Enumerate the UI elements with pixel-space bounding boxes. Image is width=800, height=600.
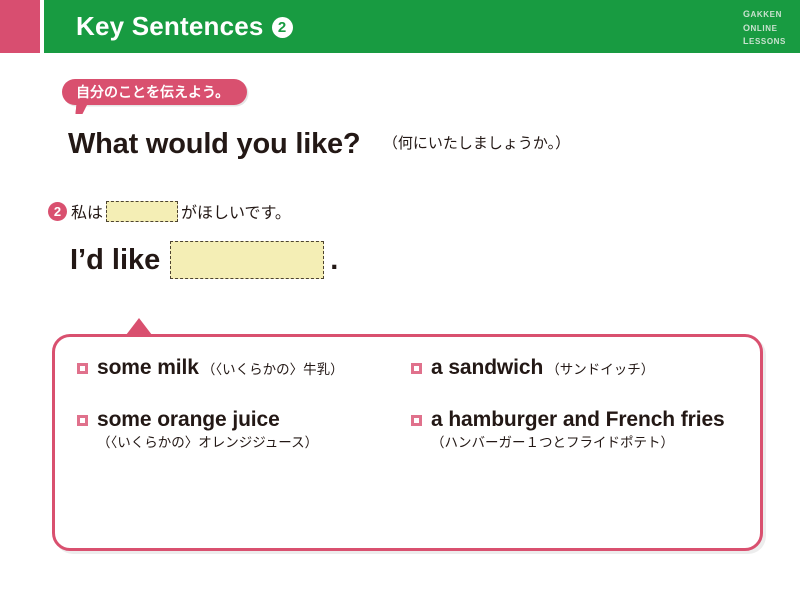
option-english: a sandwich [431,356,543,379]
prompt-blank-field[interactable] [106,201,178,222]
answer-line: I’d like . [70,241,338,279]
option-item-hamburger[interactable]: a hamburger and French fries （ハンバーガー１つとフ… [411,407,746,452]
option-japanese: （〈いくらかの〉オレンジジュース） [97,433,318,452]
option-japanese: （サンドイッチ） [546,362,654,377]
brand-logo-line-3: Lessons [743,34,786,48]
answer-blank-field[interactable] [170,241,324,279]
options-grid: some milk（〈いくらかの〉牛乳） some orange juice （… [55,337,760,548]
page-header: Key Sentences2 Gakken Online Lessons [0,0,800,53]
option-english: some milk [97,356,199,379]
option-english: a hamburger and French fries [431,408,725,431]
page-title-number-badge: 2 [272,17,293,38]
options-box-pointer-icon [126,318,152,335]
header-accent-block [0,0,40,53]
question-line: What would you like? （何にいたしましょうか。） [68,128,570,161]
instruction-tag-tail-icon [75,104,87,114]
prompt-number-badge: 2 [48,202,67,221]
option-body: a hamburger and French fries （ハンバーガー１つとフ… [431,407,725,452]
page-title: Key Sentences2 [76,11,293,42]
option-body: some milk（〈いくらかの〉牛乳） [97,355,344,380]
brand-logo-line-2: Online [743,21,786,35]
page-title-text: Key Sentences [76,11,264,41]
instruction-tag: 自分のことを伝えよう。 [62,79,247,105]
checkbox-square-icon[interactable] [77,363,88,374]
checkbox-square-icon[interactable] [77,415,88,426]
question-japanese: （何にいたしましょうか。） [383,135,570,152]
answer-english-before: I’d like [70,244,160,277]
option-english: some orange juice [97,408,280,431]
options-box: some milk（〈いくらかの〉牛乳） some orange juice （… [52,334,763,551]
prompt-japanese-before: 私は [71,199,103,223]
option-body: a sandwich（サンドイッチ） [431,355,654,380]
brand-logo: Gakken Online Lessons [743,7,786,48]
option-body: some orange juice （〈いくらかの〉オレンジジュース） [97,407,318,452]
option-japanese: （ハンバーガー１つとフライドポテト） [431,433,725,452]
answer-english-after: . [330,244,338,277]
option-japanese: （〈いくらかの〉牛乳） [202,362,344,377]
checkbox-square-icon[interactable] [411,415,422,426]
prompt-japanese-after: がほしいです。 [181,199,291,223]
option-item-sandwich[interactable]: a sandwich（サンドイッチ） [411,355,654,380]
option-item-orange-juice[interactable]: some orange juice （〈いくらかの〉オレンジジュース） [77,407,318,452]
prompt-line: 2 私は がほしいです。 [48,199,291,223]
checkbox-square-icon[interactable] [411,363,422,374]
option-item-milk[interactable]: some milk（〈いくらかの〉牛乳） [77,355,344,380]
question-english: What would you like? [68,128,360,160]
